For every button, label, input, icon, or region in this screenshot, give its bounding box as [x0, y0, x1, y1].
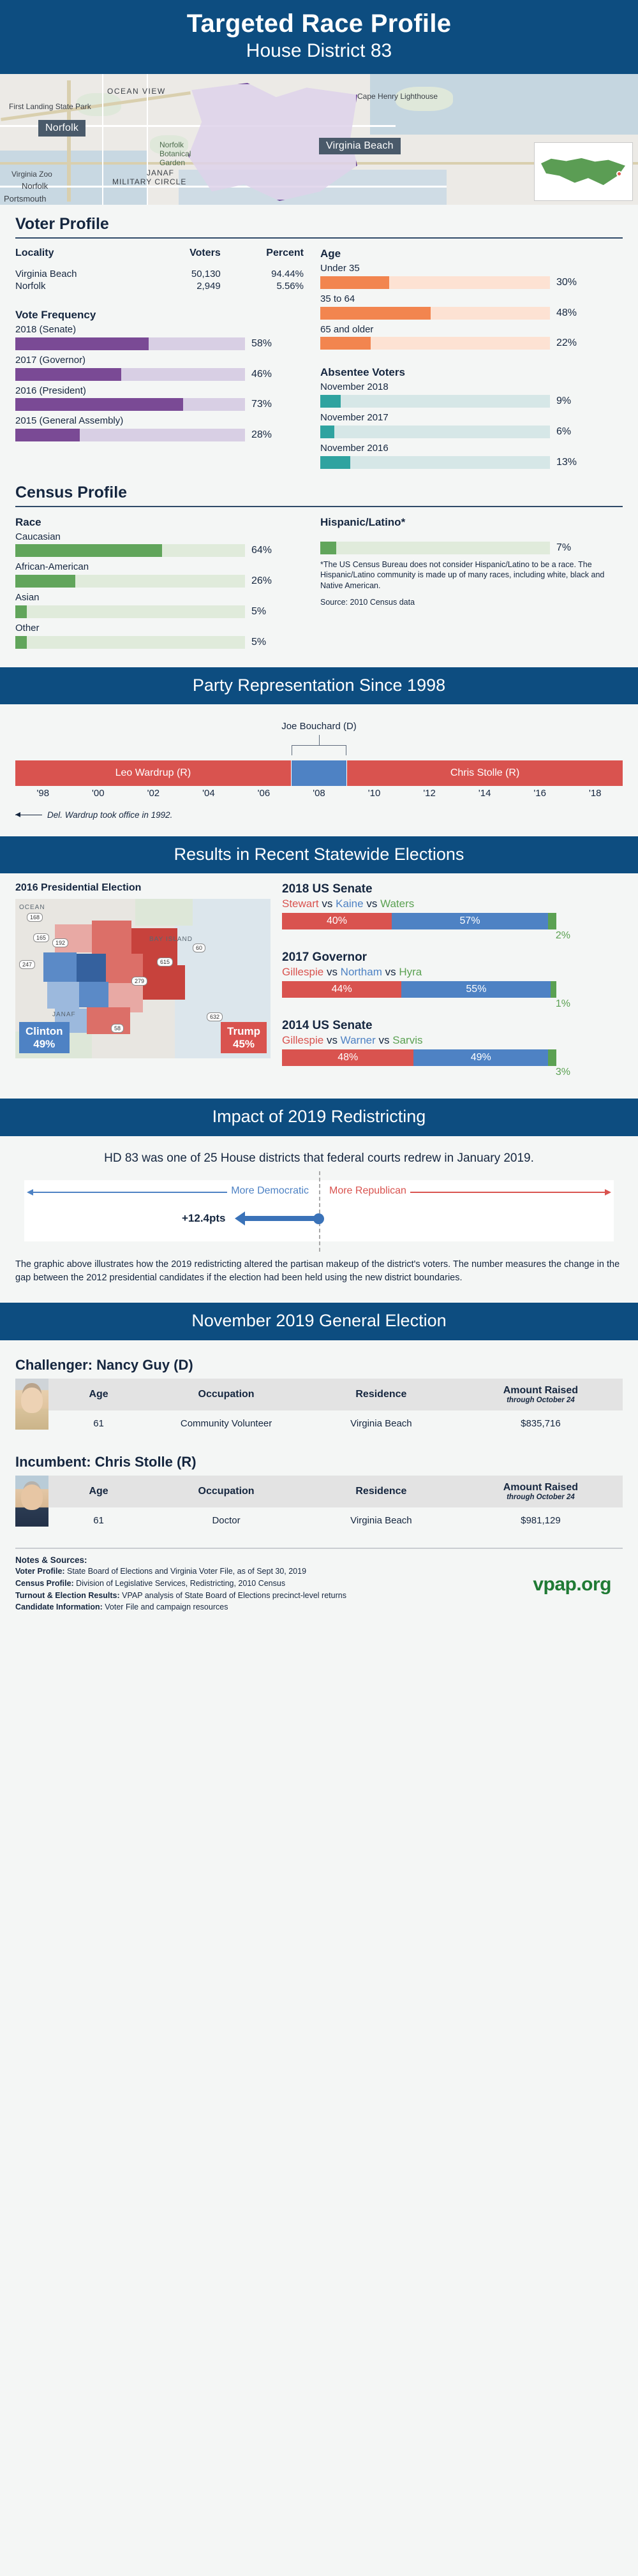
third-party-value: 1%: [282, 998, 570, 1010]
bar-label: 65 and older: [320, 324, 609, 336]
year-tick: '12: [402, 788, 457, 799]
bar-label: November 2018: [320, 381, 609, 394]
map-highway: [67, 80, 71, 202]
note-label: Voter Profile:: [15, 1567, 65, 1576]
third-party-value: 2%: [282, 930, 570, 942]
year-tick: '00: [71, 788, 126, 799]
route-shield: 615: [157, 958, 173, 966]
route-shield: 168: [27, 913, 43, 922]
precinct: [47, 982, 79, 1009]
timeline-note: Del. Wardrup took office in 1992.: [15, 810, 623, 820]
bar-track: [320, 395, 550, 408]
race-bar: 40% 57%: [282, 913, 556, 929]
race-bar: 48% 49%: [282, 1049, 556, 1066]
bar-value: 5%: [251, 606, 266, 618]
precinct: [79, 982, 108, 1007]
bar-row: 2018 (Senate) 58%: [15, 324, 304, 350]
bar-label: African-American: [15, 561, 304, 574]
cell-percent: 94.44%: [221, 268, 304, 280]
race-title: 2014 US Senate: [282, 1019, 620, 1033]
route-shield: 60: [193, 944, 205, 952]
col-occupation: Occupation: [149, 1476, 304, 1507]
cell-residence: Virginia Beach: [304, 1410, 459, 1440]
bar-fill: [15, 575, 75, 588]
cell-age: 61: [48, 1507, 149, 1537]
bar-fill: [320, 276, 389, 289]
col-amount-raised: Amount Raised through October 24: [459, 1379, 623, 1410]
map-town-label: First Landing State Park: [9, 102, 91, 111]
col-amount-raised: Amount Raised through October 24: [459, 1476, 623, 1507]
bar-track: [15, 575, 245, 588]
party-timeline: Joe Bouchard (D) Leo Wardrup (R) Chris S…: [0, 704, 638, 825]
bar-track: [15, 429, 245, 441]
result-tag-clinton: Clinton 49%: [19, 1022, 70, 1053]
candidate-row-challenger: Age Occupation Residence Amount Raised t…: [15, 1379, 623, 1440]
table-row: 61 Community Volunteer Virginia Beach $8…: [48, 1410, 623, 1440]
bar-row: 35 to 64 48%: [320, 293, 609, 320]
candidate-third: Sarvis: [392, 1034, 422, 1046]
timeline-segment-wardrup[interactable]: Leo Wardrup (R): [15, 760, 291, 786]
bar-value: 13%: [556, 457, 577, 468]
shift-arrow: [244, 1216, 320, 1221]
note-line: Candidate Information: Voter File and ca…: [15, 1601, 346, 1613]
precinct-map-2016[interactable]: 168 165 247 192 279 60 615 58 632 OCEAN …: [15, 899, 271, 1058]
bar-democrat: 55%: [401, 981, 551, 998]
bar-label: November 2016: [320, 443, 609, 455]
absentee-heading: Absentee Voters: [320, 366, 609, 379]
bar-label: Asian: [15, 592, 304, 604]
race-2017-governor: 2017 Governor Gillespie vs Northam vs Hy…: [282, 951, 620, 1010]
bar-row: Caucasian 64%: [15, 531, 304, 558]
callout-brace: [292, 745, 346, 755]
year-tick: '14: [457, 788, 512, 799]
timeline-segment-bouchard[interactable]: [291, 760, 347, 786]
party-representation-banner: Party Representation Since 1998: [0, 667, 638, 704]
bar-row: November 2018 9%: [320, 381, 609, 408]
bar-label: November 2017: [320, 412, 609, 424]
redistricting-lead: HD 83 was one of 25 House districts that…: [15, 1150, 623, 1167]
map-town-label: Portsmouth: [4, 194, 46, 204]
col-age: Age: [48, 1476, 149, 1507]
avatar-chris-stolle: [15, 1476, 48, 1527]
precinct: [77, 954, 106, 982]
map-region-label: BAY ISLAND: [149, 936, 193, 943]
statewide-results-section: 2016 Presidential Election 168 165: [0, 873, 638, 1099]
race-2018-us-senate: 2018 US Senate Stewart vs Kaine vs Water…: [282, 882, 620, 942]
bar-third: [548, 1049, 556, 1066]
timeline-note-text: Del. Wardrup took office in 1992.: [47, 810, 172, 820]
hispanic-footnote: *The US Census Bureau does not consider …: [320, 559, 609, 592]
col-residence: Residence: [304, 1476, 459, 1507]
bar-track: [15, 398, 245, 411]
bar-label: 2016 (President): [15, 385, 304, 397]
bar-democrat: 57%: [392, 913, 548, 929]
census-profile-heading: Census Profile: [15, 473, 623, 507]
hispanic-heading: Hispanic/Latino*: [320, 516, 609, 529]
absentee-chart: November 2018 9% November 2017 6% Novemb…: [320, 381, 609, 468]
bar-fill: [320, 542, 336, 554]
table-row: 61 Doctor Virginia Beach $981,129: [48, 1507, 623, 1537]
route-shield: 632: [207, 1012, 223, 1021]
col-amount-label: Amount Raised: [503, 1482, 578, 1493]
third-party-value: 3%: [282, 1067, 570, 1078]
redistricting-section: HD 83 was one of 25 House districts that…: [0, 1136, 638, 1294]
year-tick: '06: [236, 788, 292, 799]
cell-amount: $835,716: [459, 1410, 623, 1440]
race-bar: 44% 55%: [282, 981, 556, 998]
cell-age: 61: [48, 1410, 149, 1440]
bar-value: 58%: [251, 338, 272, 350]
note-line: Turnout & Election Results: VPAP analysi…: [15, 1590, 346, 1602]
candidate-democrat: Northam: [341, 966, 382, 978]
col-occupation: Occupation: [149, 1379, 304, 1410]
age-heading: Age: [320, 248, 609, 260]
note-text: State Board of Elections and Virginia Vo…: [65, 1567, 306, 1576]
bar-track: [320, 276, 550, 289]
candidate-republican: Gillespie: [282, 1034, 323, 1046]
redistricting-banner: Impact of 2019 Redistricting: [0, 1099, 638, 1136]
challenger-table: Age Occupation Residence Amount Raised t…: [48, 1379, 623, 1440]
bar-track: [15, 544, 245, 557]
age-chart: Under 35 30% 35 to 64 48% 65 and older 2…: [320, 263, 609, 350]
map-town-label: MILITARY CIRCLE: [112, 177, 186, 186]
vpap-logo[interactable]: vpap.org: [533, 1574, 623, 1595]
note-label: Census Profile:: [15, 1579, 74, 1588]
bar-fill: [15, 429, 80, 441]
incumbent-table: Age Occupation Residence Amount Raised t…: [48, 1476, 623, 1537]
bar-track: [320, 456, 550, 469]
axis-label-democratic: More Democratic: [227, 1185, 313, 1197]
race-candidates: Stewart vs Kaine vs Waters: [282, 898, 620, 910]
bar-fill: [15, 605, 27, 618]
bar-value: 64%: [251, 545, 272, 556]
cell-locality: Virginia Beach: [15, 268, 152, 280]
shift-value: +12.4pts: [182, 1212, 226, 1225]
map-town-label: JANAF: [147, 168, 174, 177]
footer-notes-sources: Notes & Sources: Voter Profile: State Bo…: [0, 1544, 638, 1624]
year-tick: '04: [181, 788, 237, 799]
bar-label: 2017 (Governor): [15, 355, 304, 367]
map-town-label: Norfolk: [22, 181, 48, 191]
table-row: Virginia Beach 50,130 94.44%: [15, 268, 304, 280]
notes-title: Notes & Sources:: [15, 1555, 346, 1565]
bar-value: 46%: [251, 369, 272, 380]
bar-value: 48%: [556, 307, 577, 319]
bar-row: 7%: [320, 542, 609, 554]
precinct: [143, 965, 185, 1000]
bar-value: 7%: [556, 542, 571, 554]
bar-fill: [320, 337, 371, 350]
timeline-callout: Joe Bouchard (D): [15, 721, 623, 760]
virginia-state-inset: [534, 142, 633, 201]
race-candidates: Gillespie vs Northam vs Hyra: [282, 966, 620, 979]
precinct: [92, 921, 131, 954]
infographic-page: Targeted Race Profile House District 83 …: [0, 0, 638, 1624]
note-label: Candidate Information:: [15, 1603, 103, 1611]
axis-label-republican: More Republican: [325, 1185, 410, 1197]
notes-block: Notes & Sources: Voter Profile: State Bo…: [15, 1555, 346, 1613]
col-voters: Voters: [152, 248, 221, 268]
table-row: Norfolk 2,949 5.56%: [15, 280, 304, 292]
bar-fill: [320, 426, 334, 438]
map-region-label: JANAF: [52, 1011, 76, 1018]
bar-fill: [320, 456, 350, 469]
vs-label: vs: [322, 898, 332, 910]
year-tick: '18: [567, 788, 623, 799]
candidate-republican: Stewart: [282, 898, 319, 910]
map-label-virginia-beach: Virginia Beach: [319, 138, 401, 154]
precinct: [43, 952, 77, 982]
race-candidates: Gillespie vs Warner vs Sarvis: [282, 1034, 620, 1047]
candidate-row-incumbent: Age Occupation Residence Amount Raised t…: [15, 1476, 623, 1537]
bar-track: [15, 605, 245, 618]
candidate-democrat: Kaine: [336, 898, 363, 910]
route-shield: 192: [52, 938, 68, 947]
bar-value: 30%: [556, 277, 577, 288]
year-tick: '16: [512, 788, 568, 799]
bar-value: 6%: [556, 426, 571, 438]
precinct: [87, 1007, 130, 1034]
age-absentee-column: Age Under 35 30% 35 to 64 48% 65 and old…: [320, 248, 609, 473]
route-shield: 279: [131, 977, 147, 986]
map-town-label: OCEAN VIEW: [107, 87, 166, 96]
vs-label: vs: [385, 966, 396, 978]
vs-label: vs: [327, 966, 338, 978]
note-text: Division of Legislative Services, Redist…: [74, 1579, 285, 1588]
note-line: Voter Profile: State Board of Elections …: [15, 1566, 346, 1578]
page-title: Targeted Race Profile: [0, 9, 638, 38]
route-shield: 247: [19, 960, 35, 969]
map-label-norfolk: Norfolk: [38, 120, 85, 137]
candidate-name: Clinton: [26, 1025, 63, 1038]
candidate-republican: Gillespie: [282, 966, 323, 978]
avatar-nancy-guy: [15, 1379, 48, 1430]
note-label: Turnout & Election Results:: [15, 1591, 120, 1600]
bar-row: 2017 (Governor) 46%: [15, 355, 304, 381]
bar-value: 22%: [556, 337, 577, 349]
callout-stem: [319, 735, 320, 745]
bar-value: 9%: [556, 396, 571, 407]
col-residence: Residence: [304, 1379, 459, 1410]
slider-knob[interactable]: [313, 1213, 324, 1224]
page-header: Targeted Race Profile House District 83: [0, 0, 638, 74]
map-town-label: Virginia Zoo: [11, 170, 52, 179]
bar-republican: 40%: [282, 913, 392, 929]
vote-frequency-chart: 2018 (Senate) 58% 2017 (Governor) 46% 20…: [15, 324, 304, 441]
locality-column: Locality Voters Percent Virginia Beach 5…: [15, 248, 304, 473]
cell-residence: Virginia Beach: [304, 1507, 459, 1537]
district-locator-dot: [616, 171, 622, 177]
precinct-map-column: 2016 Presidential Election 168 165: [15, 882, 271, 1087]
cell-amount: $981,129: [459, 1507, 623, 1537]
bar-row: African-American 26%: [15, 561, 304, 588]
cell-percent: 5.56%: [221, 280, 304, 292]
bar-fill: [320, 307, 431, 320]
bar-row: 65 and older 22%: [320, 324, 609, 350]
locality-table: Locality Voters Percent Virginia Beach 5…: [15, 248, 304, 292]
bar-label: 2015 (General Assembly): [15, 415, 304, 427]
cell-voters: 50,130: [152, 268, 221, 280]
bar-row: 2016 (President) 73%: [15, 385, 304, 411]
route-shield: 165: [33, 933, 49, 942]
bar-track: [320, 337, 550, 350]
bar-track: [320, 307, 550, 320]
timeline-year-axis: '98 '00 '02 '04 '06 '08 '10 '12 '14 '16 …: [15, 788, 623, 799]
bar-label: 2018 (Senate): [15, 324, 304, 336]
bar-row: Other 5%: [15, 623, 304, 649]
race-heading: Race: [15, 516, 304, 529]
result-tag-trump: Trump 45%: [221, 1022, 267, 1053]
bar-value: 5%: [251, 637, 266, 648]
year-tick: '10: [346, 788, 402, 799]
year-tick: '02: [126, 788, 181, 799]
candidate-pct: 49%: [26, 1038, 63, 1051]
bar-row: 2015 (General Assembly) 28%: [15, 415, 304, 441]
bar-republican: 48%: [282, 1049, 413, 1066]
year-tick: '98: [15, 788, 71, 799]
bar-row: November 2017 6%: [320, 412, 609, 438]
candidates-section: Challenger: Nancy Guy (D) Age Occupation…: [0, 1340, 638, 1544]
col-amount-sublabel: through October 24: [461, 1396, 620, 1404]
year-tick: '08: [292, 788, 347, 799]
note-text: Voter File and campaign resources: [103, 1603, 228, 1611]
bar-row: Under 35 30%: [320, 263, 609, 289]
redistricting-note: The graphic above illustrates how the 20…: [15, 1258, 623, 1285]
cell-voters: 2,949: [152, 280, 221, 292]
page-subtitle: House District 83: [0, 40, 638, 63]
bar-label: Under 35: [320, 263, 609, 275]
bar-fill: [320, 395, 341, 408]
vs-label: vs: [379, 1034, 390, 1046]
bar-fill: [15, 636, 27, 649]
note-text: VPAP analysis of State Board of Election…: [120, 1591, 346, 1600]
bar-row: November 2016 13%: [320, 443, 609, 469]
bar-track: [15, 368, 245, 381]
race-title: 2017 Governor: [282, 951, 620, 965]
cell-occupation: Doctor: [149, 1507, 304, 1537]
bar-track: [320, 426, 550, 438]
timeline-bar: Leo Wardrup (R) Chris Stolle (R): [15, 760, 623, 786]
bar-fill: [15, 368, 121, 381]
bar-fill: [15, 544, 162, 557]
district-hero-map[interactable]: First Landing State Park OCEAN VIEW Norf…: [0, 74, 638, 205]
col-amount-label: Amount Raised: [503, 1385, 578, 1396]
slider-midline: [319, 1171, 320, 1252]
census-source: Source: 2010 Census data: [320, 598, 609, 607]
race-chart: Caucasian 64% African-American 26% Asian…: [15, 531, 304, 649]
arrow-left-icon: [15, 815, 42, 816]
table-header-row: Age Occupation Residence Amount Raised t…: [48, 1379, 623, 1410]
footer-divider: [15, 1548, 623, 1549]
precinct-map-title: 2016 Presidential Election: [15, 882, 271, 894]
vs-label: vs: [366, 898, 377, 910]
face-shape: [21, 1388, 43, 1413]
bar-value: 26%: [251, 575, 272, 587]
voter-profile-section: Voter Profile Locality Voters Percent Vi…: [0, 205, 638, 653]
timeline-segment-stolle[interactable]: Chris Stolle (R): [347, 760, 623, 786]
statewide-results-banner: Results in Recent Statewide Elections: [0, 836, 638, 873]
voter-profile-heading: Voter Profile: [15, 205, 623, 239]
table-header-row: Locality Voters Percent: [15, 248, 304, 268]
incumbent-heading: Incumbent: Chris Stolle (R): [15, 1454, 623, 1470]
col-locality: Locality: [15, 248, 152, 268]
vs-label: vs: [327, 1034, 338, 1046]
bar-track: [15, 337, 245, 350]
bar-value: 28%: [251, 429, 272, 441]
bar-third: [551, 981, 556, 998]
bar-track: [15, 636, 245, 649]
col-age: Age: [48, 1379, 149, 1410]
map-region-label: OCEAN: [19, 904, 45, 911]
bar-republican: 44%: [282, 981, 401, 998]
candidate-pct: 45%: [227, 1038, 260, 1051]
bar-fill: [15, 337, 149, 350]
col-amount-sublabel: through October 24: [461, 1493, 620, 1501]
map-green-area: [135, 899, 193, 926]
candidate-name: Trump: [227, 1025, 260, 1038]
general-election-banner: November 2019 General Election: [0, 1303, 638, 1340]
bar-row: Asian 5%: [15, 592, 304, 618]
cell-occupation: Community Volunteer: [149, 1410, 304, 1440]
challenger-heading: Challenger: Nancy Guy (D): [15, 1357, 623, 1373]
col-percent: Percent: [221, 248, 304, 268]
route-shield: 58: [111, 1024, 124, 1033]
bar-label: Caucasian: [15, 531, 304, 544]
callout-label: Joe Bouchard (D): [281, 721, 357, 732]
note-line: Census Profile: Division of Legislative …: [15, 1578, 346, 1590]
race-2014-us-senate: 2014 US Senate Gillespie vs Warner vs Sa…: [282, 1019, 620, 1078]
vote-frequency-heading: Vote Frequency: [15, 309, 304, 322]
hispanic-column: Hispanic/Latino* 7% *The US Census Burea…: [320, 516, 609, 653]
map-town-label: Norfolk Botanical Garden: [159, 141, 198, 167]
cell-locality: Norfolk: [15, 280, 152, 292]
partisan-shift-slider[interactable]: More Democratic More Republican +12.4pts: [24, 1180, 614, 1241]
race-results-column: 2018 US Senate Stewart vs Kaine vs Water…: [282, 882, 620, 1087]
candidate-third: Waters: [380, 898, 414, 910]
candidate-third: Hyra: [399, 966, 422, 978]
bar-fill: [15, 398, 183, 411]
bar-democrat: 49%: [413, 1049, 548, 1066]
bar-label: 35 to 64: [320, 293, 609, 306]
bar-value: 73%: [251, 399, 272, 410]
table-header-row: Age Occupation Residence Amount Raised t…: [48, 1476, 623, 1507]
race-column: Race Caucasian 64% African-American 26% …: [15, 516, 304, 653]
bar-track: [320, 542, 550, 554]
virginia-outline: [541, 157, 625, 186]
bar-label: Other: [15, 623, 304, 635]
candidate-democrat: Warner: [341, 1034, 376, 1046]
face-shape: [21, 1484, 43, 1510]
race-title: 2018 US Senate: [282, 882, 620, 896]
bar-third: [548, 913, 556, 929]
map-town-label: Cape Henry Lighthouse: [357, 92, 438, 101]
